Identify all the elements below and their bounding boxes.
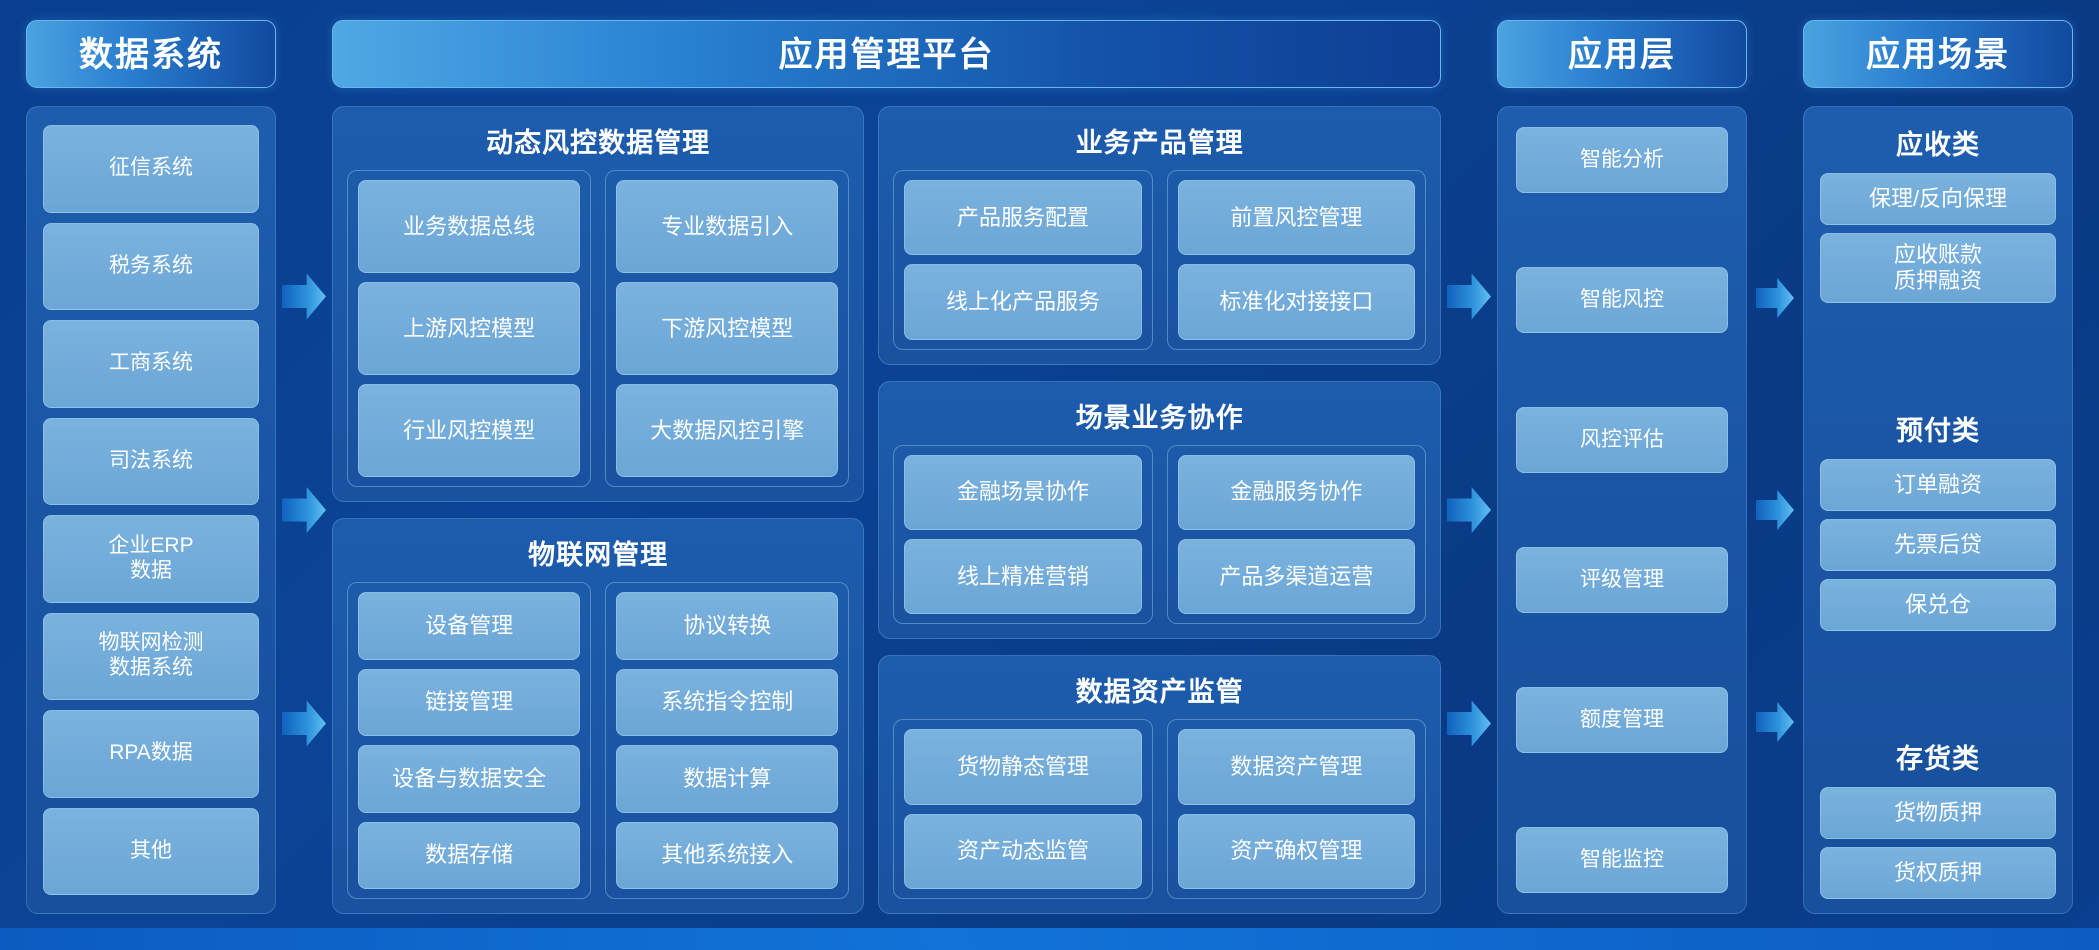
- list-item[interactable]: 货权质押: [1820, 847, 2056, 899]
- list-item[interactable]: 大数据风控引擎: [616, 384, 838, 477]
- list-item[interactable]: 智能监控: [1516, 827, 1728, 893]
- panel-title: 动态风控数据管理: [347, 117, 849, 170]
- arrow-right-icon: [282, 274, 326, 320]
- scenario-group-title: 存货类: [1820, 735, 2056, 779]
- arrow-group-data-to-platform: [276, 20, 332, 914]
- list-item[interactable]: 产品服务配置: [904, 180, 1141, 255]
- list-item[interactable]: 数据资产管理: [1178, 729, 1415, 804]
- arrow-right-icon: [1756, 278, 1794, 318]
- column-data-systems: 数据系统 征信系统 税务系统 工商系统 司法系统 企业ERP 数据 物联网检测 …: [26, 20, 276, 914]
- platform-body: 动态风控数据管理 业务数据总线 上游风控模型 行业风控模型 专业数据引入 下游风…: [332, 106, 1441, 914]
- list-item[interactable]: 数据存储: [358, 822, 580, 890]
- list-item[interactable]: 应收账款 质押融资: [1820, 233, 2056, 303]
- subgroup-right: 协议转换 系统指令控制 数据计算 其他系统接入: [605, 582, 849, 899]
- list-item[interactable]: 其他: [43, 808, 259, 896]
- list-item[interactable]: 前置风控管理: [1178, 180, 1415, 255]
- list-item[interactable]: 订单融资: [1820, 459, 2056, 511]
- arrow-right-icon: [1447, 701, 1491, 747]
- column-scenarios: 应用场景 应收类 保理/反向保理 应收账款 质押融资 预付类 订单融资 先票后贷…: [1803, 20, 2073, 914]
- list-item[interactable]: 征信系统: [43, 125, 259, 213]
- list-item[interactable]: 其他系统接入: [616, 822, 838, 890]
- list-item[interactable]: 保理/反向保理: [1820, 173, 2056, 225]
- list-item[interactable]: 工商系统: [43, 320, 259, 408]
- list-item[interactable]: 上游风控模型: [358, 282, 580, 375]
- list-item[interactable]: 金融场景协作: [904, 455, 1141, 530]
- platform-left-stack: 动态风控数据管理 业务数据总线 上游风控模型 行业风控模型 专业数据引入 下游风…: [332, 106, 864, 914]
- column-application-layer: 应用层 智能分析 智能风控 风控评估 评级管理 额度管理 智能监控: [1497, 20, 1747, 914]
- list-item[interactable]: 货物质押: [1820, 787, 2056, 839]
- list-item[interactable]: 司法系统: [43, 418, 259, 506]
- subgroup-right: 前置风控管理 标准化对接接口: [1167, 170, 1426, 350]
- list-item[interactable]: 业务数据总线: [358, 180, 580, 273]
- arrow-right-icon: [282, 487, 326, 533]
- panel-title: 物联网管理: [347, 529, 849, 582]
- list-item[interactable]: 资产动态监管: [904, 814, 1141, 889]
- column-header-application-layer: 应用层: [1497, 20, 1747, 88]
- panel-scenario-business-collaboration: 场景业务协作 金融场景协作 线上精准营销 金融服务协作 产品多渠道运营: [878, 381, 1441, 640]
- list-item[interactable]: 评级管理: [1516, 547, 1728, 613]
- list-item[interactable]: RPA数据: [43, 710, 259, 798]
- list-item[interactable]: 资产确权管理: [1178, 814, 1415, 889]
- subgroup-left: 设备管理 链接管理 设备与数据安全 数据存储: [347, 582, 591, 899]
- list-item[interactable]: 货物静态管理: [904, 729, 1141, 804]
- arrow-right-icon: [1447, 274, 1491, 320]
- subgroup-right: 专业数据引入 下游风控模型 大数据风控引擎: [605, 170, 849, 487]
- list-item[interactable]: 专业数据引入: [616, 180, 838, 273]
- list-item[interactable]: 金融服务协作: [1178, 455, 1415, 530]
- bottom-accent-bar: [0, 928, 2099, 950]
- application-layer-list: 智能分析 智能风控 风控评估 评级管理 额度管理 智能监控: [1497, 106, 1747, 914]
- arrow-right-icon: [1756, 490, 1794, 530]
- list-item[interactable]: 智能分析: [1516, 127, 1728, 193]
- arrow-right-icon: [282, 701, 326, 747]
- subgroup-right: 数据资产管理 资产确权管理: [1167, 719, 1426, 899]
- scenario-group-receivables: 应收类 保理/反向保理 应收账款 质押融资: [1820, 121, 2056, 303]
- list-item[interactable]: 链接管理: [358, 669, 580, 737]
- subgroup-left: 产品服务配置 线上化产品服务: [893, 170, 1152, 350]
- subgroup-right: 金融服务协作 产品多渠道运营: [1167, 445, 1426, 625]
- panel-title: 数据资产监管: [893, 666, 1426, 719]
- subgroup-left: 业务数据总线 上游风控模型 行业风控模型: [347, 170, 591, 487]
- column-header-data-systems: 数据系统: [26, 20, 276, 88]
- diagram-canvas: 数据系统 征信系统 税务系统 工商系统 司法系统 企业ERP 数据 物联网检测 …: [0, 0, 2099, 928]
- scenario-group-title: 预付类: [1820, 407, 2056, 451]
- scenario-group-prepaid: 预付类 订单融资 先票后贷 保兑仓: [1820, 407, 2056, 631]
- arrow-group-application-to-scenarios: [1747, 20, 1803, 914]
- scenarios-list: 应收类 保理/反向保理 应收账款 质押融资 预付类 订单融资 先票后贷 保兑仓 …: [1803, 106, 2073, 914]
- list-item[interactable]: 保兑仓: [1820, 579, 2056, 631]
- list-item[interactable]: 产品多渠道运营: [1178, 539, 1415, 614]
- subgroup-left: 金融场景协作 线上精准营销: [893, 445, 1152, 625]
- panel-business-product-management: 业务产品管理 产品服务配置 线上化产品服务 前置风控管理 标准化对接接口: [878, 106, 1441, 365]
- list-item[interactable]: 协议转换: [616, 592, 838, 660]
- column-header-scenarios: 应用场景: [1803, 20, 2073, 88]
- list-item[interactable]: 行业风控模型: [358, 384, 580, 477]
- list-item[interactable]: 标准化对接接口: [1178, 264, 1415, 339]
- arrow-group-platform-to-application: [1441, 20, 1497, 914]
- list-item[interactable]: 智能风控: [1516, 267, 1728, 333]
- scenario-group-inventory: 存货类 货物质押 货权质押: [1820, 735, 2056, 899]
- list-item[interactable]: 先票后贷: [1820, 519, 2056, 571]
- list-item[interactable]: 线上化产品服务: [904, 264, 1141, 339]
- list-item[interactable]: 风控评估: [1516, 407, 1728, 473]
- list-item[interactable]: 系统指令控制: [616, 669, 838, 737]
- list-item[interactable]: 税务系统: [43, 223, 259, 311]
- data-systems-list: 征信系统 税务系统 工商系统 司法系统 企业ERP 数据 物联网检测 数据系统 …: [26, 106, 276, 914]
- panel-iot-management: 物联网管理 设备管理 链接管理 设备与数据安全 数据存储 协议转换 系统指令控制…: [332, 518, 864, 914]
- column-header-platform: 应用管理平台: [332, 20, 1441, 88]
- panel-title: 业务产品管理: [893, 117, 1426, 170]
- arrow-right-icon: [1756, 702, 1794, 742]
- list-item[interactable]: 线上精准营销: [904, 539, 1141, 614]
- list-item[interactable]: 数据计算: [616, 745, 838, 813]
- panel-title: 场景业务协作: [893, 392, 1426, 445]
- subgroup-left: 货物静态管理 资产动态监管: [893, 719, 1152, 899]
- list-item[interactable]: 企业ERP 数据: [43, 515, 259, 603]
- list-item[interactable]: 设备与数据安全: [358, 745, 580, 813]
- list-item[interactable]: 物联网检测 数据系统: [43, 613, 259, 701]
- list-item[interactable]: 额度管理: [1516, 687, 1728, 753]
- arrow-right-icon: [1447, 487, 1491, 533]
- panel-dynamic-risk-data-management: 动态风控数据管理 业务数据总线 上游风控模型 行业风控模型 专业数据引入 下游风…: [332, 106, 864, 502]
- list-item[interactable]: 下游风控模型: [616, 282, 838, 375]
- list-item[interactable]: 设备管理: [358, 592, 580, 660]
- platform-right-stack: 业务产品管理 产品服务配置 线上化产品服务 前置风控管理 标准化对接接口 场景业…: [878, 106, 1441, 914]
- column-platform: 应用管理平台 动态风控数据管理 业务数据总线 上游风控模型 行业风控模型 专业数…: [332, 20, 1441, 914]
- scenario-group-title: 应收类: [1820, 121, 2056, 165]
- panel-data-asset-supervision: 数据资产监管 货物静态管理 资产动态监管 数据资产管理 资产确权管理: [878, 655, 1441, 914]
